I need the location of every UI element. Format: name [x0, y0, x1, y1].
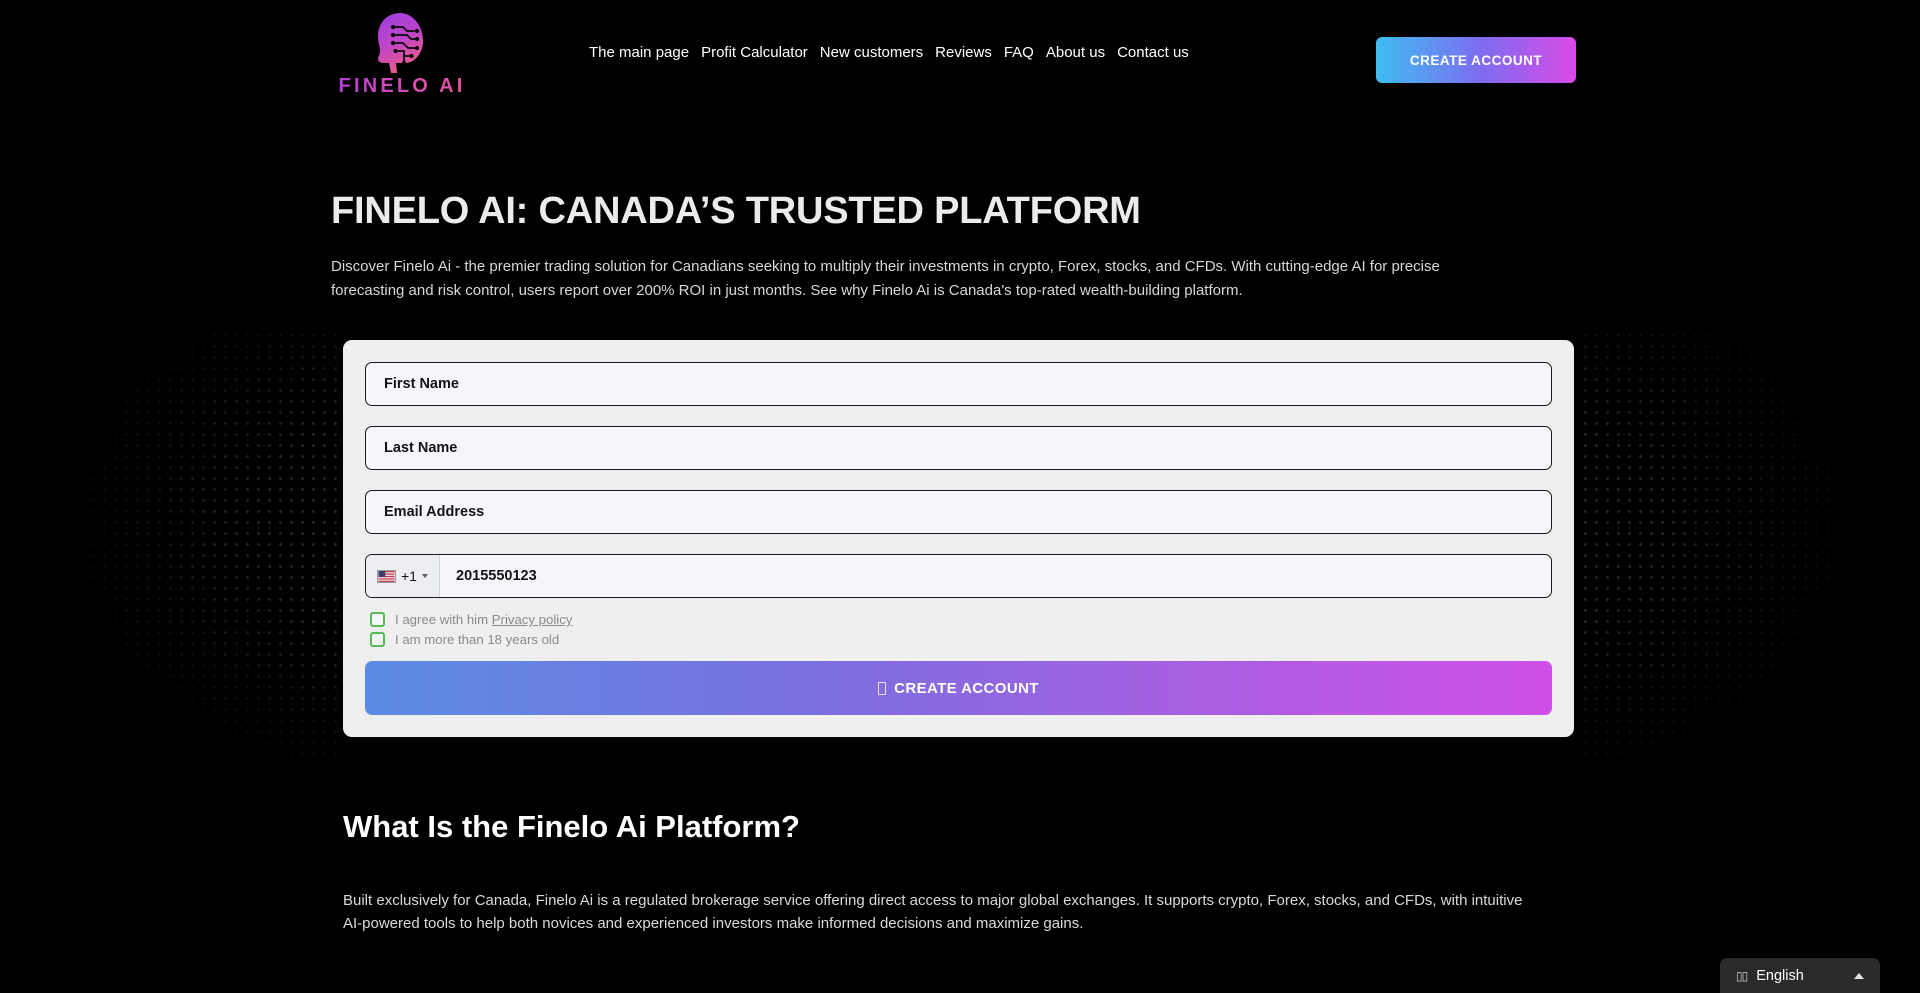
- signup-form-card: +1 I agree with him Privacy policy I am …: [343, 340, 1574, 737]
- hero-subtitle: Discover Finelo Ai - the premier trading…: [331, 255, 1516, 302]
- main-navigation: The main page Profit Calculator New cust…: [583, 0, 1195, 104]
- caret-up-icon: [1854, 973, 1864, 979]
- privacy-policy-checkbox[interactable]: [370, 612, 385, 627]
- nav-item-new-customers[interactable]: New customers: [814, 44, 929, 61]
- site-header: FINELO AI The main page Profit Calculato…: [0, 0, 1920, 104]
- last-name-input[interactable]: [365, 426, 1552, 470]
- world-map-dot-texture-right: [1580, 330, 1920, 760]
- form-create-account-label: CREATE ACCOUNT: [894, 680, 1039, 697]
- nav-item-reviews[interactable]: Reviews: [929, 44, 998, 61]
- language-selector-label: English: [1756, 968, 1845, 984]
- nav-item-the-main-page[interactable]: The main page: [583, 44, 695, 61]
- hero-title: FINELO AI: CANADA’S TRUSTED PLATFORM: [331, 190, 1920, 233]
- first-name-input[interactable]: [365, 362, 1552, 406]
- age-consent-label: I am more than 18 years old: [395, 632, 559, 647]
- us-flag-icon: [377, 570, 396, 583]
- form-create-account-button[interactable]: CREATE ACCOUNT: [365, 661, 1552, 715]
- platform-info-title: What Is the Finelo Ai Platform?: [343, 809, 1920, 845]
- privacy-consent-row: I agree with him Privacy policy: [370, 612, 1552, 627]
- platform-info-body: Built exclusively for Canada, Finelo Ai …: [343, 890, 1523, 935]
- hero-section: FINELO AI: CANADA’S TRUSTED PLATFORM Dis…: [0, 190, 1920, 302]
- nav-item-contact-us[interactable]: Contact us: [1111, 44, 1195, 61]
- header-create-account-button[interactable]: CREATE ACCOUNT: [1376, 37, 1576, 83]
- brand-logo[interactable]: FINELO AI: [343, 12, 461, 98]
- age-confirmation-checkbox[interactable]: [370, 632, 385, 647]
- nav-item-faq[interactable]: FAQ: [998, 44, 1040, 61]
- nav-item-about-us[interactable]: About us: [1040, 44, 1111, 61]
- nav-item-profit-calculator[interactable]: Profit Calculator: [695, 44, 814, 61]
- missing-glyph-tofu-icon: [878, 682, 886, 695]
- age-consent-row: I am more than 18 years old: [370, 632, 1552, 647]
- world-map-dot-texture-left: [0, 330, 340, 760]
- phone-field-group: +1: [365, 554, 1552, 598]
- dial-code-label: +1: [401, 568, 417, 584]
- privacy-policy-link[interactable]: Privacy policy: [492, 612, 573, 627]
- flag-placeholder-icon: ▯▯: [1736, 969, 1747, 983]
- ai-brain-circuit-icon: [370, 12, 434, 74]
- chevron-down-icon: [422, 574, 428, 578]
- privacy-consent-text: I agree with him: [395, 612, 488, 627]
- country-code-selector[interactable]: +1: [366, 555, 440, 597]
- privacy-consent-label: I agree with him Privacy policy: [395, 612, 572, 627]
- email-input[interactable]: [365, 490, 1552, 534]
- phone-number-input[interactable]: [440, 555, 1551, 597]
- platform-info-section: What Is the Finelo Ai Platform? Built ex…: [0, 809, 1920, 935]
- language-selector[interactable]: ▯▯ English: [1720, 958, 1880, 993]
- brand-logo-text: FINELO AI: [339, 75, 466, 98]
